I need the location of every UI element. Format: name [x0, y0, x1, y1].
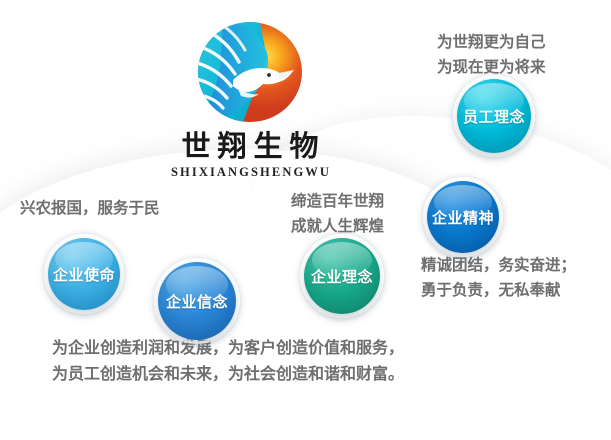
logo-chinese-name: 世翔生物 [150, 132, 350, 162]
bubble-belief[interactable]: 企业信念 [158, 262, 236, 340]
philosophy-label: 企业理念 [311, 266, 373, 287]
company-logo: 世翔生物 SHIXIANGSHENGWU [150, 18, 350, 180]
belief-label: 企业信念 [166, 291, 228, 312]
logo-pinyin: SHIXIANGSHENGWU [150, 165, 350, 180]
staff-caption-line-2: 为现在更为将来 [437, 55, 546, 80]
mission-caption-line-1: 兴农报国，服务于民 [20, 196, 160, 221]
staff-label: 员工理念 [463, 106, 525, 127]
belief-caption: 为企业创造利润和发展，为客户创造价值和服务， 为员工创造机会和未来，为社会创造和… [52, 336, 404, 388]
philosophy-caption-line-1: 缔造百年世翔 [291, 189, 384, 214]
eagle-sun-emblem-icon [189, 18, 311, 130]
mission-label: 企业使命 [53, 264, 115, 285]
staff-caption: 为世翔更为自己 为现在更为将来 [437, 30, 546, 80]
spirit-caption-line-2: 勇于负责，无私奉献 [421, 278, 576, 303]
staff-caption-line-1: 为世翔更为自己 [437, 30, 546, 55]
belief-caption-line-2: 为员工创造机会和未来，为社会创造和谐和财富。 [52, 362, 404, 388]
spirit-caption-line-1: 精诚团结，务实奋进； [421, 253, 576, 278]
bubble-philosophy[interactable]: 企业理念 [304, 238, 380, 314]
bubble-mission[interactable]: 企业使命 [48, 238, 120, 310]
mission-caption: 兴农报国，服务于民 [20, 196, 160, 221]
philosophy-caption-line-2: 成就人生辉煌 [291, 214, 384, 239]
bubble-staff[interactable]: 员工理念 [457, 79, 531, 153]
belief-caption-line-1: 为企业创造利润和发展，为客户创造价值和服务， [52, 336, 404, 362]
philosophy-caption: 缔造百年世翔 成就人生辉煌 [291, 189, 384, 239]
spirit-caption: 精诚团结，务实奋进； 勇于负责，无私奉献 [421, 253, 576, 303]
culture-infographic: 世翔生物 SHIXIANGSHENGWU 兴农报国，服务于民 缔造百年世翔 成就… [0, 0, 611, 440]
spirit-label: 企业精神 [432, 207, 494, 228]
bubble-spirit[interactable]: 企业精神 [427, 181, 499, 253]
